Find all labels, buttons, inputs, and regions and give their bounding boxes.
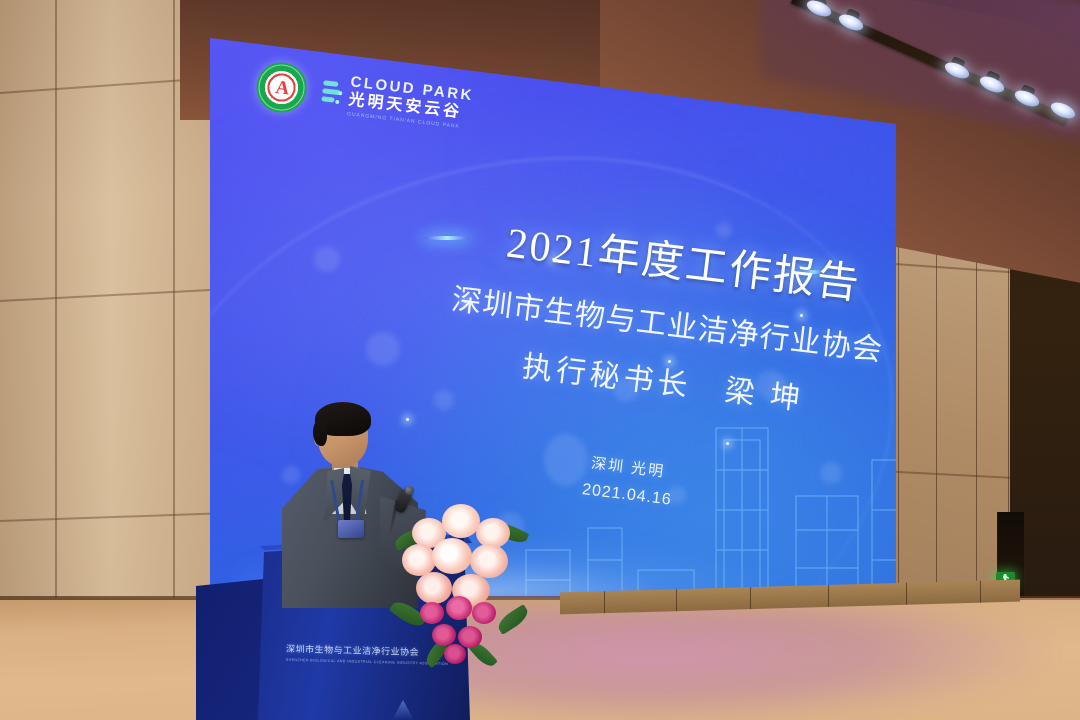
speaker-badge [338,520,364,538]
microphone-tip [405,486,414,495]
slide-date: 2021.04.16 [581,481,673,510]
flower-arrangement [398,496,528,664]
slide-location: 深圳 光明 [590,452,666,482]
speaker-hair-side [313,420,327,446]
conference-photo: A CLOUD PARK 光明天安云谷 GUANGMING TIAN'AN CL… [0,0,1080,720]
